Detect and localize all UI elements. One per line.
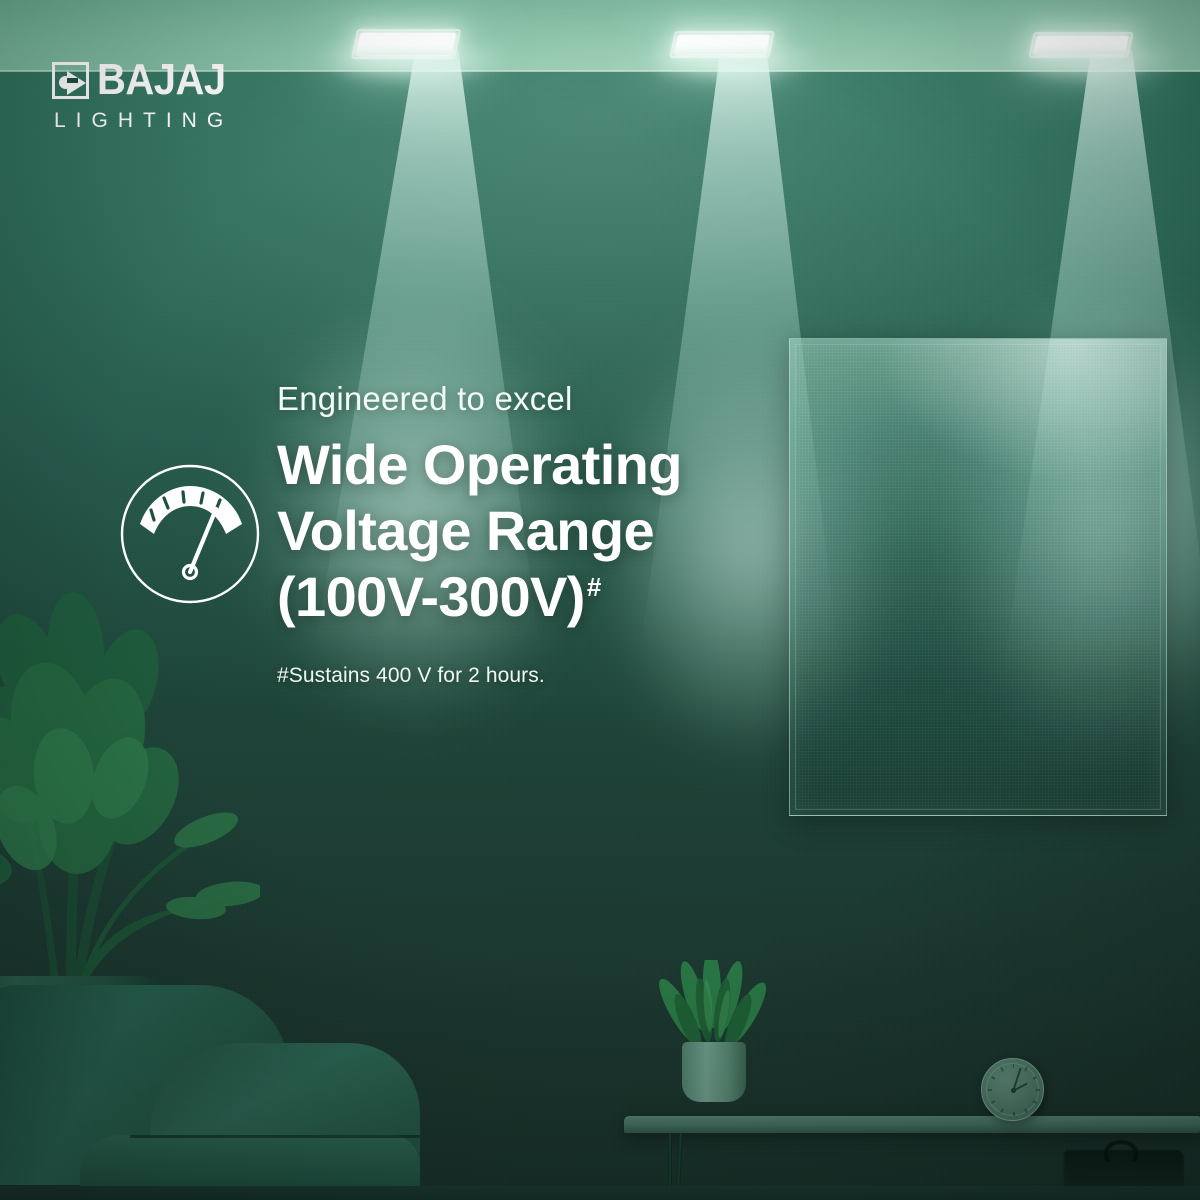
large-potted-plant (0, 590, 260, 1030)
clock-center-pin (1011, 1088, 1016, 1093)
headline-line-1: Wide Operating (277, 432, 757, 498)
copy-block: Engineered to excel Wide Operating Volta… (277, 378, 757, 690)
headline-line-2: Voltage Range (277, 498, 757, 564)
armchair (0, 985, 420, 1200)
headline: Wide Operating Voltage Range (100V-300V)… (277, 432, 757, 630)
voltage-gauge-icon (118, 462, 262, 606)
recessed-led-panel-3 (1033, 36, 1129, 54)
console-table-top (624, 1116, 1200, 1133)
footnote-text: #Sustains 400 V for 2 hours. (277, 662, 757, 690)
brand-tagline: LIGHTING (52, 110, 302, 132)
decor-object-handle (1104, 1140, 1138, 1166)
large-plant-foliage-icon (0, 590, 260, 1030)
armchair-seam (130, 1135, 420, 1138)
recessed-led-panel-1 (356, 33, 457, 55)
brand-logo[interactable]: BAJAJ LIGHTING (52, 59, 302, 139)
headline-line-3: (100V-300V) (277, 565, 585, 628)
framed-wall-panel-sheen (790, 339, 1166, 815)
small-plant-pot (682, 1042, 746, 1102)
floor-strip (0, 1186, 1200, 1200)
headline-line-3-wrap: (100V-300V)# (277, 564, 757, 630)
small-potted-plant (650, 960, 780, 1120)
brand-name: BAJAJ (97, 58, 226, 101)
recessed-led-panel-2 (674, 35, 770, 54)
framed-wall-panel (789, 338, 1167, 816)
analog-wall-clock (981, 1058, 1044, 1121)
eyebrow-text: Engineered to excel (277, 378, 757, 420)
headline-superscript: # (587, 572, 601, 602)
bajaj-arrow-mark-icon (52, 62, 89, 99)
poster-canvas: BAJAJ LIGHTING Engineered to excel Wide … (0, 0, 1200, 1200)
